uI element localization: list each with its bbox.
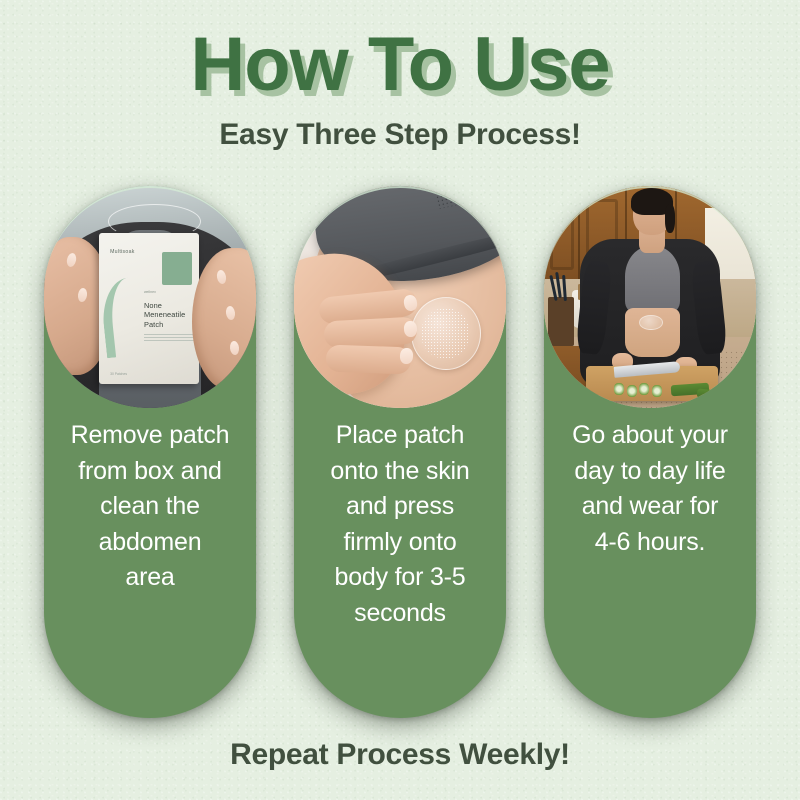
package-footer: 30 Patches	[110, 372, 127, 376]
package-brand: Multisoak	[110, 249, 135, 255]
adhesive-patch	[411, 297, 481, 370]
patch-product-box: Multisoak wellnex None Meneneatile Patch…	[99, 233, 199, 384]
knife-block	[548, 297, 573, 346]
step-card-3[interactable]: Go about your day to day life and wear f…	[544, 186, 756, 718]
hands-holding-patch-box-illustration: Multisoak wellnex None Meneneatile Patch…	[44, 186, 256, 408]
package-subbrand: wellnex	[144, 290, 156, 294]
steps-container: Multisoak wellnex None Meneneatile Patch…	[0, 186, 800, 718]
step-card-2[interactable]: Place patch onto the skin and press firm…	[294, 186, 506, 718]
step-2-photo	[294, 186, 506, 408]
hand-pressing-patch-illustration	[294, 186, 506, 408]
step-1-text: Remove patch from box and clean the abdo…	[54, 418, 246, 596]
worn-patch	[639, 315, 662, 331]
package-product-name: None Meneneatile Patch	[144, 301, 196, 331]
page-title: How To Use	[0, 26, 800, 104]
footer-callout: Repeat Process Weekly!	[0, 738, 800, 772]
step-2-text: Place patch onto the skin and press firm…	[304, 418, 496, 631]
step-1-photo: Multisoak wellnex None Meneneatile Patch…	[44, 186, 256, 408]
step-3-photo	[544, 186, 756, 408]
step-card-1[interactable]: Multisoak wellnex None Meneneatile Patch…	[44, 186, 256, 718]
kitchen-scene-illustration	[544, 186, 756, 408]
page-subtitle: Easy Three Step Process!	[0, 118, 800, 152]
step-3-text: Go about your day to day life and wear f…	[554, 418, 746, 560]
header: How To Use Easy Three Step Process!	[0, 0, 800, 152]
